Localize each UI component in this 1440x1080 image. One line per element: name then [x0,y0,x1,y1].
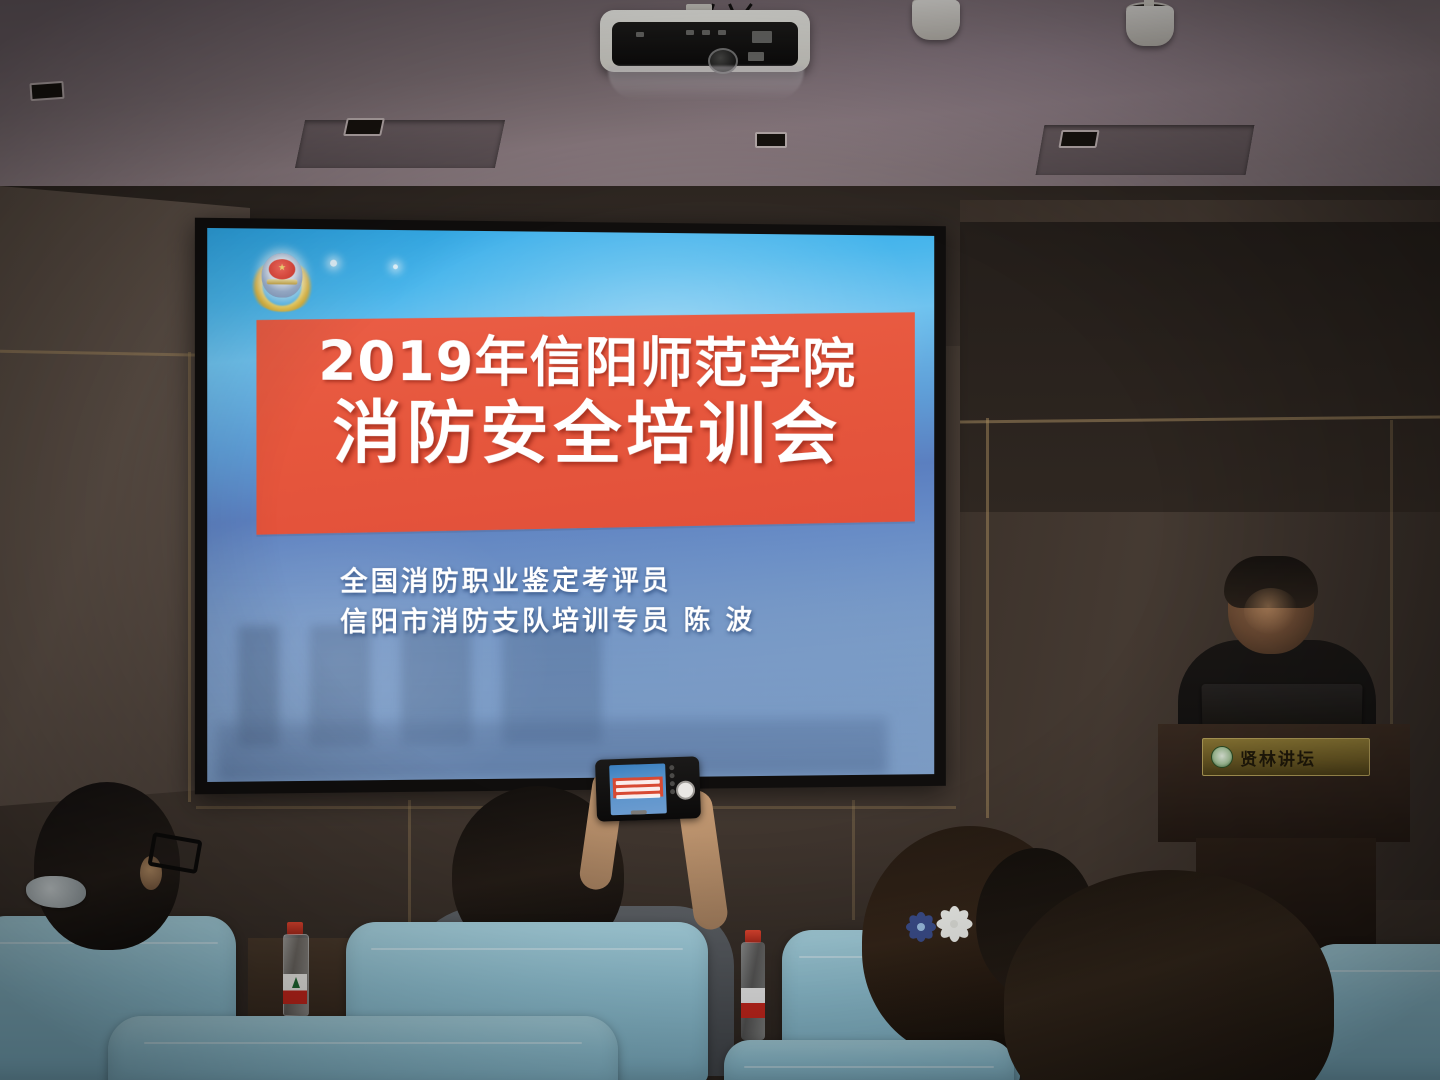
chair-seam [744,1066,993,1068]
slide-title-band: 2019年信阳师范学院 消防安全培训会 [256,312,914,534]
projector-reflection [608,66,804,100]
shutter-button[interactable] [676,780,696,800]
ceiling-vent-icon [343,118,385,136]
slide-title-line-2: 消防安全培训会 [256,393,914,475]
podium-plaque-text: 贤林讲坛 [1240,745,1316,770]
wall-trim-line [852,800,855,920]
phone-mode-dots [669,765,675,797]
chair-seam [371,948,682,950]
wall-trim-line [188,352,191,802]
lens-sparkle [330,260,337,267]
projector-button [702,30,710,35]
projector-button [718,30,726,35]
wall-trim-line [408,800,411,930]
slide-subtitle-line-2: 信阳市消防支队培训专员 陈 波 [340,601,897,644]
ceiling-vent-icon [29,81,64,101]
chair-seam [1319,970,1440,972]
ceiling-spotlight [912,0,958,10]
auditorium-chair [108,1016,618,1080]
ceiling-projector [600,4,810,96]
smartphone[interactable] [595,756,701,822]
ceiling-coffer [295,120,505,168]
projector-port [752,31,772,43]
projector-body [600,10,810,72]
projector-port [748,52,764,61]
projector-button [686,30,694,35]
wall-trim-line [986,418,989,818]
chair-seam [144,1042,583,1044]
phone-camera-preview [609,763,667,815]
speaker-face [1244,588,1298,634]
conference-room-photo: ★ 2019年信阳师范学院 消防安全培训会 全国消防职业鉴定考评员 信阳市消防支… [0,0,1440,1080]
podium-plaque: 贤林讲坛 [1202,738,1370,776]
spotlight-head [912,0,960,40]
bottle-label [741,988,765,1018]
ceiling-vent-icon [1058,130,1099,148]
projector-button [636,32,644,37]
right-wall-upper-panel [960,222,1440,512]
spotlight-head [1126,6,1174,46]
ceiling-spotlight [1126,6,1172,16]
water-bottle [282,922,308,1014]
daisy-hair-clip-icon [906,912,936,942]
china-fire-service-emblem-icon: ★ [248,243,315,314]
emblem-base-bar [267,279,298,284]
slide-subtitle: 全国消防职业鉴定考评员 信阳市消防支队培训专员 陈 波 [340,561,897,643]
slide-title-line-1: 2019年信阳师范学院 [256,330,914,396]
university-seal-icon [1211,746,1233,768]
daisy-hair-clip-icon [936,906,972,942]
bottle-label [283,974,307,1004]
lens-sparkle [393,264,398,269]
auditorium-chair [724,1040,1014,1080]
water-bottle [740,930,766,1040]
emblem-star-icon: ★ [278,263,286,272]
projection-screen: ★ 2019年信阳师范学院 消防安全培训会 全国消防职业鉴定考评员 信阳市消防支… [207,228,934,782]
slide-subtitle-line-1: 全国消防职业鉴定考评员 [340,561,897,603]
podium: 贤林讲坛 [1158,724,1410,842]
projector-front-panel [612,22,798,66]
phone-home-indicator [631,810,647,815]
projection-screen-frame: ★ 2019年信阳师范学院 消防安全培训会 全国消防职业鉴定考评员 信阳市消防支… [195,218,946,795]
phone-preview-title-band [613,776,664,798]
slide-background-photo [207,508,934,782]
ceiling-vent-icon [755,132,787,148]
